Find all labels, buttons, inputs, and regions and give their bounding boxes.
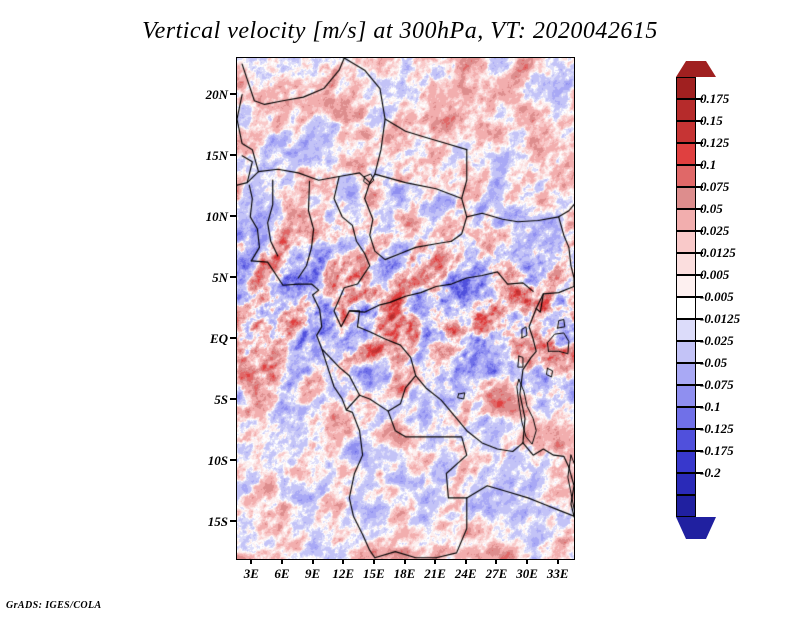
colorbar-band (676, 385, 696, 407)
colorbar-extend-max-arrow (676, 61, 716, 77)
colorbar-band (676, 187, 696, 209)
y-axis-tick-label: 15S (188, 514, 228, 530)
colorbar-extend-min-arrow (676, 517, 716, 539)
x-axis-tick-mark (434, 559, 436, 564)
x-axis-tick-mark (404, 559, 406, 564)
colorbar-tick-label: -0.075 (700, 378, 734, 391)
colorbar-band (676, 99, 696, 121)
colorbar-band (676, 495, 696, 517)
y-axis-tick-label: EQ (188, 331, 228, 347)
colorbar (676, 77, 696, 517)
colorbar-tick-mark (696, 120, 703, 122)
colorbar-band (676, 341, 696, 363)
y-axis-tick-mark (230, 215, 236, 217)
colorbar-tick-label: 0.005 (700, 268, 729, 281)
colorbar-band (676, 297, 696, 319)
colorbar-tick-mark (696, 208, 703, 210)
x-axis-tick-mark (495, 559, 497, 564)
colorbar-tick-mark (696, 98, 703, 100)
colorbar-band (676, 209, 696, 231)
y-axis-tick-label: 10N (188, 209, 228, 225)
y-axis-tick-label: 5N (188, 270, 228, 286)
y-axis-tick-mark (230, 93, 236, 95)
colorbar-band (676, 253, 696, 275)
vertical-velocity-heatmap (237, 58, 574, 559)
colorbar-tick-label: -0.175 (700, 444, 734, 457)
x-axis-tick-mark (557, 559, 559, 564)
x-axis-tick-mark (465, 559, 467, 564)
y-axis-tick-mark (230, 459, 236, 461)
colorbar-tick-label: -0.0125 (700, 312, 740, 325)
colorbar-band (676, 165, 696, 187)
colorbar-tick-label: -0.125 (700, 422, 734, 435)
colorbar-tick-label: -0.2 (700, 466, 721, 479)
colorbar-tick-label: 0.125 (700, 136, 729, 149)
colorbar-tick-mark (696, 296, 703, 298)
y-axis-tick-mark (230, 276, 236, 278)
colorbar-tick-mark (696, 274, 703, 276)
colorbar-tick-mark (696, 186, 703, 188)
colorbar-tick-label: 0.025 (700, 224, 729, 237)
y-axis-tick-label: 15N (188, 148, 228, 164)
colorbar-tick-label: -0.025 (700, 334, 734, 347)
colorbar-tick-mark (696, 142, 703, 144)
colorbar-tick-label: 0.0125 (700, 246, 736, 259)
colorbar-band (676, 231, 696, 253)
x-axis-tick-mark (526, 559, 528, 564)
y-axis-tick-mark (230, 520, 236, 522)
colorbar-tick-mark (696, 450, 703, 452)
colorbar-band (676, 319, 696, 341)
y-axis-tick-mark (230, 398, 236, 400)
colorbar-tick-mark (696, 318, 703, 320)
x-axis-tick-mark (342, 559, 344, 564)
y-axis-tick-label: 10S (188, 453, 228, 469)
x-axis-tick-label: 33E (538, 566, 578, 582)
colorbar-band (676, 363, 696, 385)
y-axis-tick-mark (230, 154, 236, 156)
colorbar-tick-mark (696, 384, 703, 386)
x-axis-tick-mark (281, 559, 283, 564)
colorbar-tick-mark (696, 472, 703, 474)
colorbar-tick-mark (696, 252, 703, 254)
y-axis-tick-mark (230, 337, 236, 339)
colorbar-tick-mark (696, 428, 703, 430)
colorbar-tick-label: -0.1 (700, 400, 721, 413)
colorbar-tick-label: -0.005 (700, 290, 734, 303)
colorbar-tick-mark (696, 362, 703, 364)
page-title: Vertical velocity [m/s] at 300hPa, VT: 2… (0, 18, 800, 45)
colorbar-tick-mark (696, 164, 703, 166)
colorbar-band (676, 407, 696, 429)
footer-credit: GrADS: IGES/COLA (6, 600, 102, 611)
x-axis-tick-mark (250, 559, 252, 564)
colorbar-tick-label: 0.15 (700, 114, 723, 127)
x-axis-tick-mark (312, 559, 314, 564)
colorbar-band (676, 121, 696, 143)
colorbar-tick-mark (696, 340, 703, 342)
map-plot-area (236, 57, 575, 560)
colorbar-tick-label: 0.175 (700, 92, 729, 105)
colorbar-tick-label: -0.05 (700, 356, 727, 369)
colorbar-band (676, 77, 696, 99)
colorbar-tick-label: 0.05 (700, 202, 723, 215)
colorbar-band (676, 275, 696, 297)
colorbar-tick-mark (696, 406, 703, 408)
colorbar-band (676, 473, 696, 495)
colorbar-band (676, 143, 696, 165)
colorbar-band (676, 451, 696, 473)
y-axis-tick-label: 20N (188, 87, 228, 103)
colorbar-tick-mark (696, 230, 703, 232)
colorbar-band (676, 429, 696, 451)
x-axis-tick-mark (373, 559, 375, 564)
y-axis-tick-label: 5S (188, 392, 228, 408)
colorbar-tick-label: 0.075 (700, 180, 729, 193)
